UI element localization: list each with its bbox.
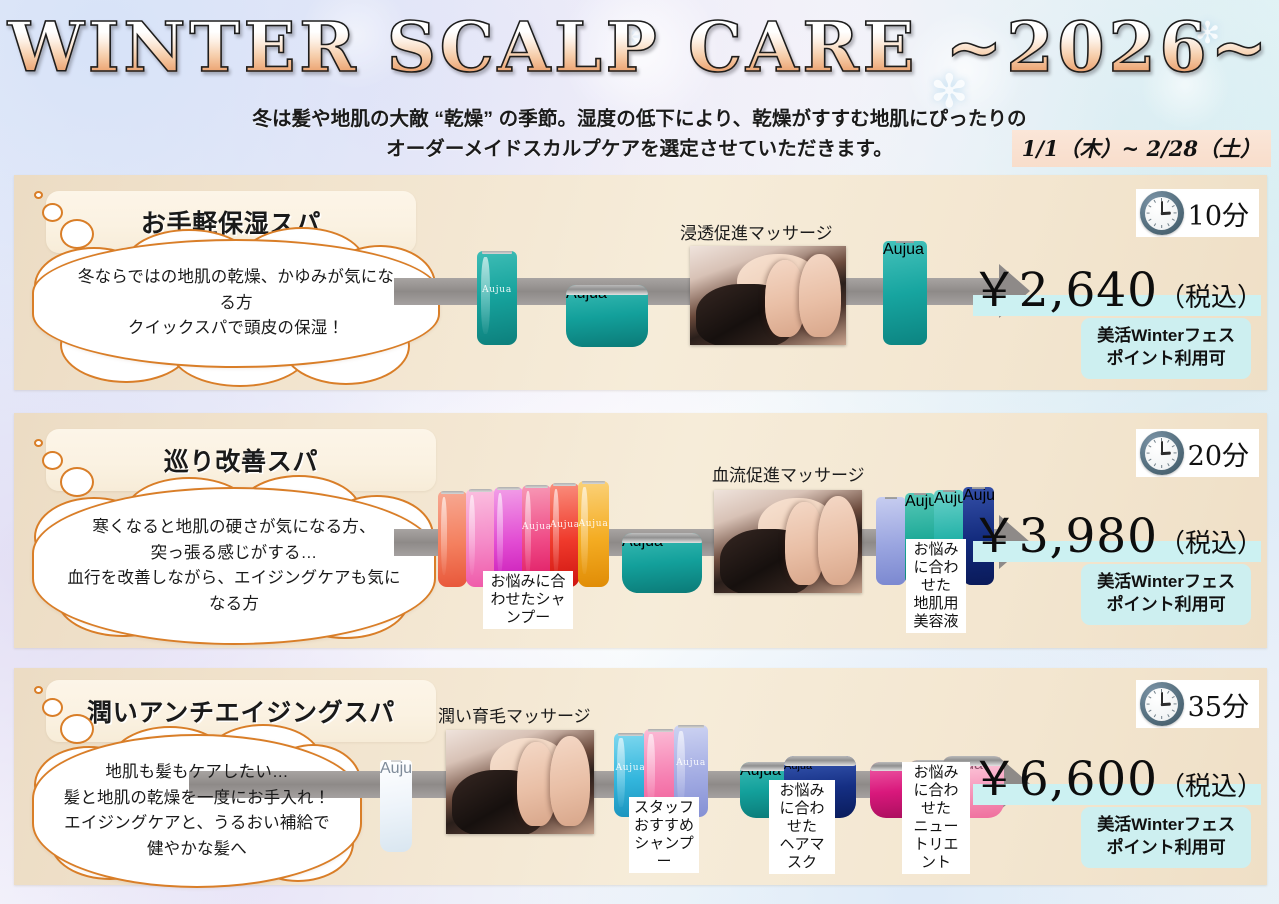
bottle-cap-icon (582, 481, 606, 484)
bottle-cap-icon (553, 483, 575, 486)
bubble-trail-dot (34, 191, 43, 199)
bottle-gloss (647, 734, 654, 806)
bottle-brand-text: Aujua (883, 241, 924, 258)
bottle-gloss (481, 257, 490, 334)
tube-nozzle-icon (391, 760, 401, 762)
bottle-cap-icon (482, 251, 512, 254)
photo-hand (799, 254, 841, 337)
pump-neck (943, 490, 955, 492)
price-2: ￥3,980 （税込） (971, 497, 1263, 566)
bottle-cap-icon (525, 485, 547, 488)
price-amount-1: ￥2,640 (971, 251, 1158, 320)
price-1: ￥2,640 （税込） (971, 251, 1263, 320)
plan-bubble-wrap-3: 地肌も髪もケアしたい… 髪と地肌の乾燥を一度にお手入れ！ エイジングケアと、うる… (32, 734, 362, 888)
bottle-cap-icon (497, 487, 519, 490)
bottle-cap-icon (469, 489, 491, 492)
page-title: WINTER SCALP CARE ~2026~ (0, 14, 1279, 82)
massage-photo-2 (714, 490, 862, 593)
price-tax-3: （税込） (1159, 766, 1263, 803)
product-hairmask-3: Aujua Aujua お悩みに合わせた ヘアマスク (740, 726, 868, 874)
plan-title-2: 巡り改善スパ (164, 442, 319, 478)
price-3: ￥6,600 （税込） (971, 740, 1263, 809)
plan-bubble-text-3: 地肌も髪もケアしたい… 髪と地肌の乾燥を一度にお手入れ！ エイジングケアと、うる… (64, 760, 331, 862)
plan-bubble-3: 地肌も髪もケアしたい… 髪と地肌の乾燥を一度にお手入れ！ エイジングケアと、うる… (32, 734, 362, 888)
pump-bottle-lavender (876, 497, 906, 585)
bottle-brand-text: Aujua (905, 493, 935, 510)
photo-hand (550, 736, 590, 825)
bottle-cap-icon (441, 491, 463, 494)
bottle-gloss (469, 495, 475, 575)
bottle-gloss (441, 497, 447, 576)
massage-label-3: 潤い育毛マッサージ (438, 702, 591, 727)
bottle-cap-icon (618, 733, 643, 736)
product-tube-3: Aujua (378, 742, 414, 852)
massage-label-1: 浸透促進マッサージ (680, 219, 833, 244)
product-shampoo-row-2: Aujua Aujua Aujua お悩みに合わせたシャンプー (438, 469, 618, 629)
plan-bubble-1: 冬ならではの地肌の乾燥、かゆみが気になる方 クイックスパで頭皮の保湿！ (32, 239, 440, 368)
product-caption-3-3: お悩みに合わせた ニュートリエント (902, 762, 970, 874)
duration-text-2: 20分 (1188, 434, 1249, 473)
massage-label-2: 血流促進マッサージ (712, 461, 865, 486)
plan-title-3: 潤いアンチエイジングスパ (87, 693, 395, 729)
date-range-badge: 1/1（木）~ 2/28（土） (1012, 130, 1271, 167)
photo-hand (818, 496, 858, 585)
bottle-gloss (525, 491, 531, 575)
bottle-brand-text: Aujua (674, 758, 708, 768)
clock-dial (1145, 197, 1178, 230)
clock-dial (1145, 688, 1178, 721)
jar-teal: Aujua (622, 533, 702, 593)
jar-lid-icon (784, 756, 856, 766)
price-tax-1: （税込） (1159, 277, 1263, 314)
points-badge-3: 美活Winterフェス ポイント利用可 (1081, 807, 1251, 868)
bottle-teal: Aujua (477, 251, 517, 345)
pump-neck (972, 487, 984, 489)
bubble-trail-dot (34, 439, 43, 447)
bottle-brand-text: Aujua (477, 285, 517, 295)
duration-badge-2: 20分 (1136, 429, 1259, 477)
tube-white: Aujua (380, 760, 412, 852)
tube-brand-text: Aujua (380, 760, 412, 777)
duration-badge-1: 10分 (1136, 189, 1259, 237)
duration-text-1: 10分 (1188, 194, 1249, 233)
plan-bubble-wrap-1: 冬ならではの地肌の乾燥、かゆみが気になる方 クイックスパで頭皮の保湿！ (32, 239, 440, 368)
product-aujua-serum-1: Aujua (883, 215, 927, 345)
points-badge-1: 美活Winterフェス ポイント利用可 (1081, 318, 1251, 379)
plan-card-3[interactable]: 潤いアンチエイジングスパ 地肌も髪もケアしたい… 髪と地肌の乾燥を一度にお手入れ… (14, 668, 1267, 885)
pump-neck (885, 497, 897, 499)
bottle-brand-text: Aujua (614, 763, 647, 773)
product-aujua-shampoo-1: Aujua (477, 235, 517, 345)
bottle-brand-text: Aujua (578, 519, 609, 529)
product-caption-3-1: スタッフおすすめ シャンプー (629, 797, 699, 873)
product-aujua-mask-1: Aujua (566, 261, 648, 347)
price-amount-2: ￥3,980 (971, 497, 1158, 566)
plan-card-1[interactable]: お手軽保湿スパ 冬ならではの地肌の乾燥、かゆみが気になる方 クイックスパで頭皮の… (14, 175, 1267, 390)
plan-bubble-wrap-2: 寒くなると地肌の硬さが気になる方、 突っ張る感じがする… 血行を改善しながら、エ… (32, 487, 436, 645)
jar-lid-icon (566, 285, 648, 295)
pump-neck (896, 241, 914, 243)
bubble-trail-dot (34, 686, 43, 694)
bottle-gloss (581, 487, 588, 574)
product-caption-2-2: お悩みに合わせた 地肌用美容液 (906, 539, 966, 633)
duration-badge-3: 35分 (1136, 680, 1259, 728)
bottle-brand-text: Aujua (522, 522, 551, 532)
jar-lid-icon (622, 533, 702, 543)
massage-photo-3 (446, 730, 594, 834)
plan-bubble-text-1: 冬ならではの地肌の乾燥、かゆみが気になる方 クイックスパで頭皮の保湿！ (70, 265, 402, 342)
product-aujua-mask-2: Aujua (622, 511, 702, 593)
price-amount-3: ￥6,600 (971, 740, 1158, 809)
product-staff-shampoo-3: Aujua Aujua スタッフおすすめ シャンプー (614, 698, 734, 873)
poster-root: ✻ ✻ ✻ WINTER SCALP CARE ~2026~ 冬は髪や地肌の大敵… (0, 0, 1279, 904)
bottle-gloss (553, 489, 559, 574)
bottle-gloss (677, 731, 684, 806)
plan-title-plate-2: 巡り改善スパ (46, 429, 436, 491)
duration-text-3: 35分 (1188, 685, 1249, 724)
poster-header: WINTER SCALP CARE ~2026~ 冬は髪や地肌の大敵 “乾燥” … (0, 0, 1279, 172)
price-tax-2: （税込） (1159, 523, 1263, 560)
bottle-gold: Aujua (578, 481, 609, 587)
clock-icon (1140, 431, 1184, 475)
bottle-cap-icon (678, 725, 704, 728)
points-badge-2: 美活Winterフェス ポイント利用可 (1081, 564, 1251, 625)
clock-icon (1140, 191, 1184, 235)
massage-photo-1 (690, 246, 846, 345)
plan-bubble-text-2: 寒くなると地肌の硬さが気になる方、 突っ張る感じがする… 血行を改善しながら、エ… (64, 515, 404, 617)
bottle-coral (438, 491, 467, 587)
bottle-brand-text: Aujua (934, 490, 964, 507)
bottle-gloss (497, 493, 503, 575)
product-caption-2-1: お悩みに合わせたシャンプー (483, 571, 573, 629)
clock-icon (1140, 682, 1184, 726)
plan-bubble-2: 寒くなると地肌の硬さが気になる方、 突っ張る感じがする… 血行を改善しながら、エ… (32, 487, 436, 645)
clock-dial (1145, 437, 1178, 470)
bottle-cap-icon (648, 729, 673, 732)
product-caption-3-2: お悩みに合わせた ヘアマスク (769, 780, 835, 874)
plan-card-2[interactable]: 巡り改善スパ 寒くなると地肌の硬さが気になる方、 突っ張る感じがする… 血行を改… (14, 413, 1267, 648)
bottle-brand-text: Aujua (550, 520, 579, 530)
pump-bottle-teal: Aujua (883, 241, 927, 345)
pump-neck (914, 493, 926, 495)
jar-teal: Aujua (566, 285, 648, 347)
